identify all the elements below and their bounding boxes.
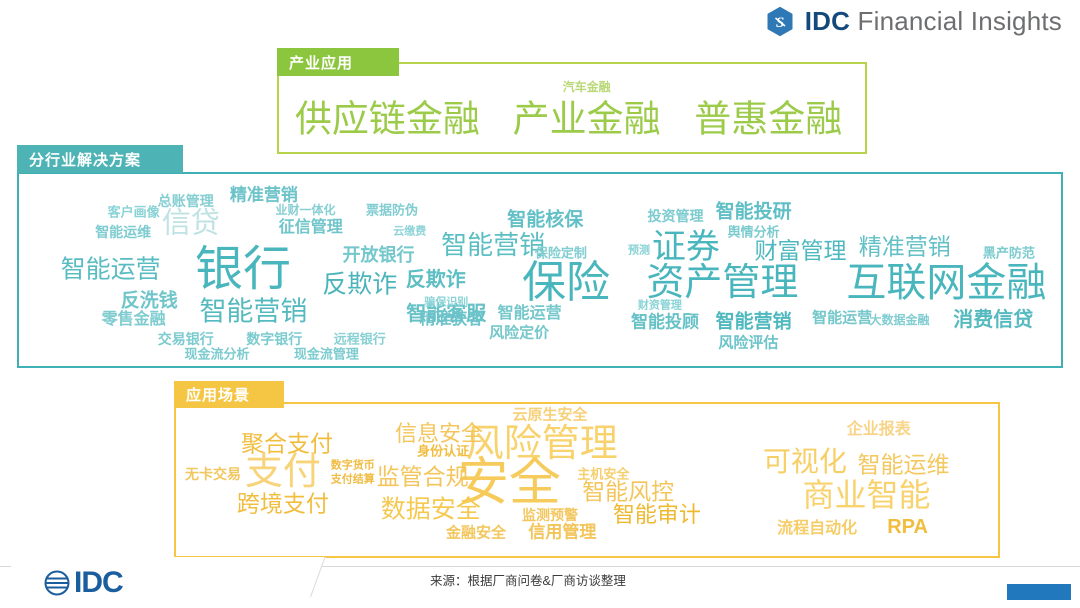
tab-application-scenarios: 应用场景 — [174, 381, 284, 408]
wordcloud-term: 票据防伪 — [366, 204, 418, 217]
wordcloud-term: 远程银行 — [334, 333, 386, 346]
wordcloud-term: 云原生安全 — [512, 407, 587, 422]
wordcloud-term: 数字货币 — [331, 461, 375, 472]
logo-wordmark: IDC Financial Insights — [805, 6, 1062, 37]
wordcloud-term: 财资管理 — [638, 301, 682, 312]
wordcloud-term: 智能审计 — [613, 504, 701, 526]
wordcloud-term: 舆情分析 — [728, 225, 780, 238]
wordcloud-term: 精准获客 — [419, 312, 483, 328]
wordcloud-term: 骗保识别 — [424, 297, 468, 308]
wordcloud-term: 金融安全 — [446, 526, 506, 541]
wordcloud-term: 数字银行 — [246, 332, 302, 346]
wordcloud-term: 智能运营 — [61, 258, 161, 283]
wordcloud-term: 智能营销 — [199, 299, 307, 326]
tab-vertical-solutions: 分行业解决方案 — [17, 145, 183, 173]
wordcloud-term: 智能运维 — [95, 225, 151, 239]
wordcloud-vertical: 银行信贷智能运营智能营销反欺诈智能客服开放银行反洗钱零售金融总账管理精准营销客户… — [19, 174, 1061, 366]
wordcloud-industry: 供应链金融产业金融汽车金融普惠金融 — [279, 64, 865, 152]
slide-canvas: S IDC Financial Insights 供应链金融产业金融汽车金融普惠… — [0, 0, 1080, 608]
wordcloud-term: 反欺诈 — [406, 270, 466, 290]
wordcloud-term: 跨境支付 — [237, 493, 329, 516]
wordcloud-term: 汽车金融 — [563, 81, 611, 93]
wordcloud-scenario: 支付聚合支付跨境支付无卡交易数字货币支付结算安全风险管理信息安全云原生安全身份认… — [176, 404, 998, 556]
wordcloud-term: 支付 — [245, 453, 321, 491]
wordcloud-term: 精准营销 — [859, 235, 951, 258]
wordcloud-term: 供应链金融 — [295, 100, 480, 137]
wordcloud-term: 黑产防范 — [983, 246, 1035, 259]
wordcloud-term: 保险定制 — [535, 246, 587, 259]
wordcloud-term: 客户画像 — [108, 206, 160, 219]
wordcloud-term: 投资管理 — [647, 209, 703, 223]
wordcloud-term: 资产管理 — [646, 264, 798, 302]
wordcloud-term: 反欺诈 — [322, 273, 397, 298]
wordcloud-term: 智能投研 — [716, 203, 792, 222]
footer-idc-text: IDC — [74, 566, 123, 600]
wordcloud-term: 普惠金融 — [694, 100, 842, 137]
wordcloud-term: 证券 — [652, 230, 720, 264]
wordcloud-term: 智能运维 — [857, 453, 949, 476]
wordcloud-term: 智能营销 — [716, 312, 792, 331]
wordcloud-term: 智能营销 — [441, 232, 545, 258]
wordcloud-term: 企业报表 — [847, 422, 911, 438]
wordcloud-term: 监测预警 — [522, 508, 578, 522]
wordcloud-term: 大数据金融 — [869, 314, 929, 326]
wordcloud-term: 预测 — [628, 245, 650, 256]
idc-globe-icon — [44, 570, 70, 596]
wordcloud-term: 聚合支付 — [241, 432, 333, 455]
wordcloud-term: 云缴费 — [393, 226, 426, 237]
wordcloud-term: 智能风控 — [582, 481, 674, 504]
wordcloud-term: 征信管理 — [279, 220, 343, 236]
wordcloud-term: 身份认证 — [417, 445, 469, 458]
wordcloud-term: 交易银行 — [158, 332, 214, 346]
wordcloud-term: 风险定价 — [489, 326, 549, 341]
wordcloud-term: 商业智能 — [802, 479, 930, 511]
wordcloud-term: 开放银行 — [342, 246, 414, 264]
wordcloud-term: 可视化 — [763, 448, 847, 476]
logo-suffix-text: Financial Insights — [850, 6, 1062, 36]
logo-idc-text: IDC — [805, 6, 850, 36]
tab-industry-application: 产业应用 — [277, 48, 399, 76]
wordcloud-term: 互联网金融 — [846, 263, 1046, 303]
wordcloud-term: 智能核保 — [507, 211, 583, 230]
svg-text:S: S — [776, 15, 784, 31]
wordcloud-term: 零售金融 — [102, 312, 166, 328]
wordcloud-term: 现金流管理 — [294, 348, 359, 361]
section-vertical-solutions: 银行信贷智能运营智能营销反欺诈智能客服开放银行反洗钱零售金融总账管理精准营销客户… — [17, 172, 1063, 368]
wordcloud-term: 智能运营 — [498, 306, 562, 322]
wordcloud-term: 监管合规 — [377, 465, 469, 488]
wordcloud-term: 流程自动化 — [777, 521, 857, 537]
section-application-scenarios: 支付聚合支付跨境支付无卡交易数字货币支付结算安全风险管理信息安全云原生安全身份认… — [174, 402, 1000, 558]
wordcloud-term: 精准营销 — [230, 187, 298, 204]
wordcloud-term: 消费信贷 — [953, 310, 1033, 330]
wordcloud-term: 信贷 — [162, 209, 220, 238]
wordcloud-term: 支付结算 — [331, 475, 375, 486]
wordcloud-term: 业财一体化 — [276, 204, 336, 216]
wordcloud-term: 总账管理 — [158, 194, 214, 208]
wordcloud-term: RPA — [887, 517, 928, 537]
wordcloud-term: 无卡交易 — [185, 467, 241, 481]
source-note: 来源：根据厂商问卷&厂商访谈整理 — [430, 570, 626, 589]
wordcloud-term: 智能投顾 — [631, 313, 699, 330]
wordcloud-term: 产业金融 — [513, 100, 661, 137]
corner-accent-block — [1007, 584, 1071, 600]
wordcloud-term: 风险管理 — [466, 425, 618, 463]
idc-financial-insights-logo: S IDC Financial Insights — [766, 6, 1062, 37]
wordcloud-term: 信用管理 — [528, 523, 596, 540]
wordcloud-term: 银行 — [195, 246, 291, 294]
wordcloud-term: 数据安全 — [381, 498, 481, 523]
wordcloud-term: 保险 — [522, 261, 610, 305]
wordcloud-term: 风险评估 — [718, 335, 778, 350]
wordcloud-term: 财富管理 — [755, 239, 847, 262]
wordcloud-term: 智能运营 — [812, 311, 872, 326]
wordcloud-term: 反洗钱 — [121, 291, 178, 310]
footer-idc-logo: IDC — [44, 566, 123, 600]
wordcloud-term: 现金流分析 — [184, 348, 249, 361]
idc-hex-icon: S — [766, 6, 794, 37]
wordcloud-term: 信息安全 — [395, 423, 483, 445]
